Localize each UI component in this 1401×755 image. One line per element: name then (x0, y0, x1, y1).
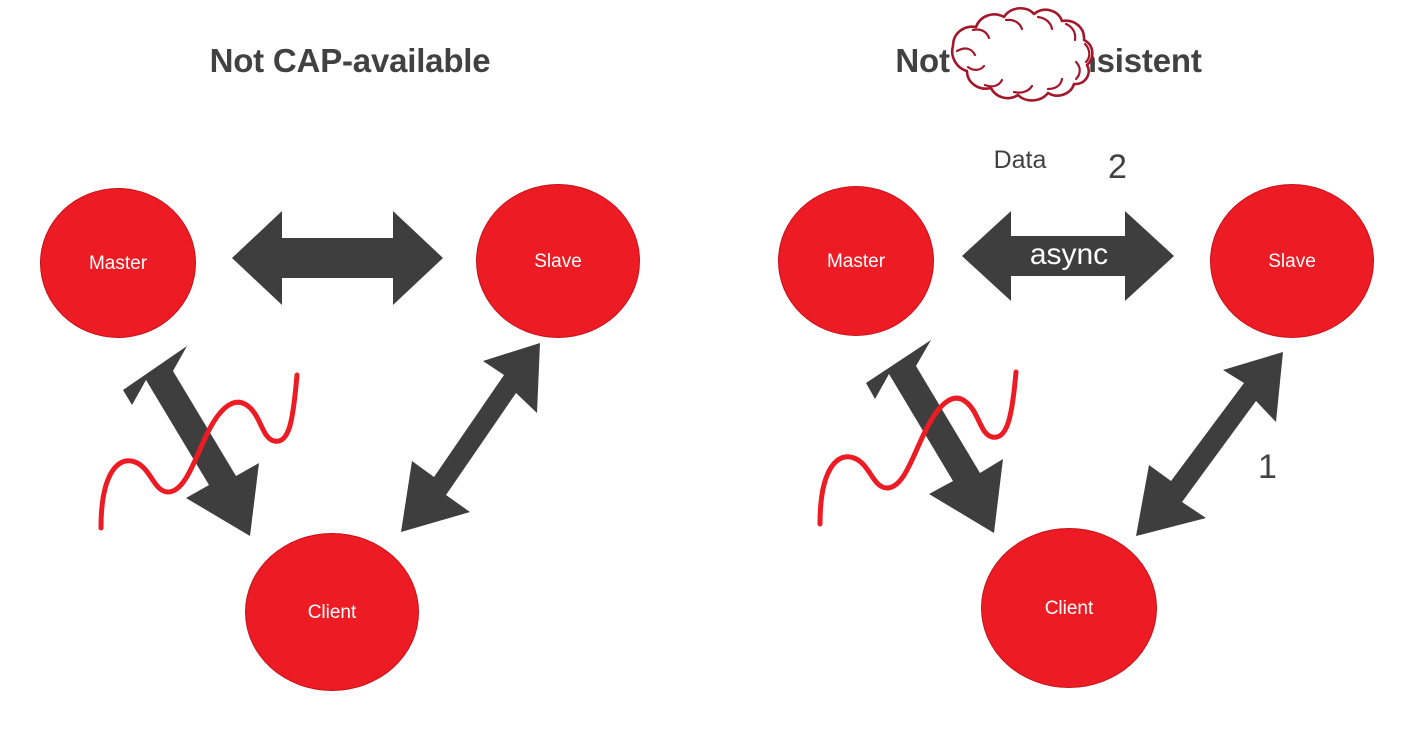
arrow-master-client-left (123, 346, 259, 536)
node-slave-left-label: Slave (534, 252, 582, 271)
annotation-step-1: 1 (1258, 450, 1277, 484)
diagram-canvas: Not CAP-available Master Slave Client No… (0, 0, 1401, 755)
annotation-step-2: 2 (1108, 150, 1127, 184)
node-master-right-label: Master (827, 252, 885, 271)
node-slave-right-label: Slave (1268, 252, 1316, 271)
node-client-left-label: Client (308, 603, 357, 622)
arrow-master-slave-left (232, 211, 443, 305)
arrow-slave-client-right (1136, 352, 1283, 536)
node-master-left[interactable]: Master (40, 188, 196, 338)
node-slave-right[interactable]: Slave (1210, 184, 1374, 338)
node-client-right-label: Client (1045, 599, 1094, 618)
node-master-left-label: Master (89, 254, 147, 273)
data-cloud-shape (952, 8, 1092, 100)
panel-not-cap-consistent: Not CAP-consistent Data async 2 1 Master (700, 0, 1401, 755)
node-slave-left[interactable]: Slave (476, 184, 640, 338)
panel-not-cap-available: Not CAP-available Master Slave Client (0, 0, 700, 755)
node-master-right[interactable]: Master (778, 186, 934, 336)
node-client-left[interactable]: Client (245, 533, 419, 691)
arrow-slave-client-left (401, 343, 540, 532)
arrow-master-slave-right-label: async (1024, 240, 1114, 270)
arrow-master-client-right (866, 340, 1003, 533)
node-client-right[interactable]: Client (981, 528, 1157, 688)
data-cloud-label: Data (970, 148, 1070, 173)
